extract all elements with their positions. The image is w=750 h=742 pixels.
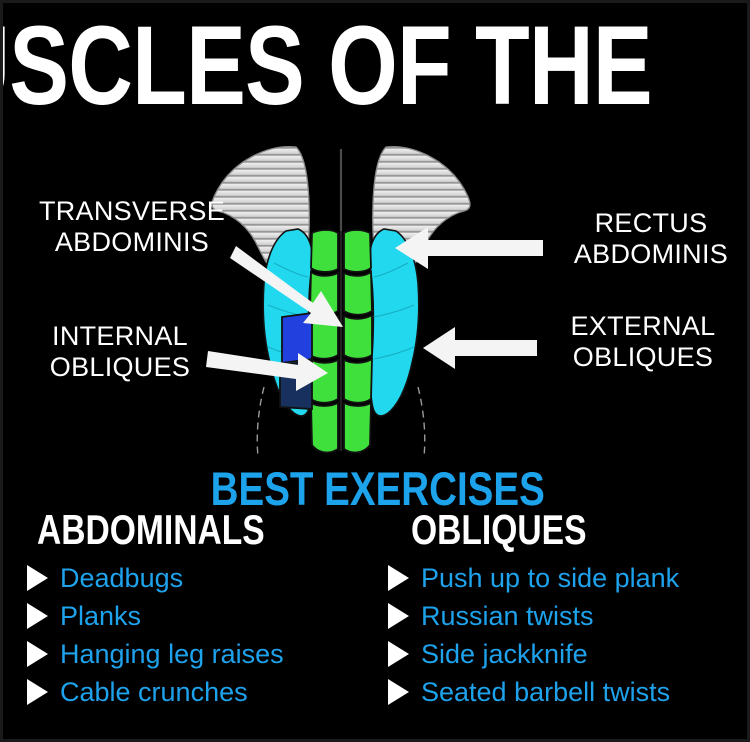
obliques-exercise-list: Push up to side plank Russian twists Sid… (378, 559, 750, 711)
list-item[interactable]: Hanging leg raises (3, 635, 378, 673)
exercise-label: Seated barbell twists (421, 677, 670, 707)
rectus-abdominis-left (310, 230, 338, 452)
triangle-bullet-icon (27, 679, 48, 705)
exercise-label: Side jackknife (421, 639, 588, 669)
column-obliques: OBLIQUES Push up to side plank Russian t… (378, 508, 750, 742)
list-item[interactable]: Planks (3, 597, 378, 635)
rectus-abdominis-right (344, 230, 372, 452)
label-rectus-abdominis: RECTUS ABDOMINIS (551, 208, 750, 270)
label-internal-obliques: INTERNAL OBLIQUES (25, 321, 215, 383)
exercise-label: Push up to side plank (421, 563, 679, 593)
list-item[interactable]: Push up to side plank (378, 559, 750, 597)
list-item[interactable]: Russian twists (378, 597, 750, 635)
exercise-label: Hanging leg raises (60, 639, 284, 669)
poster-title: MUSCLES OF THE ABS (3, 7, 750, 125)
hip-contour-right (418, 387, 425, 457)
label-external-line1: EXTERNAL (543, 311, 743, 342)
column-obliques-heading: OBLIQUES (303, 508, 663, 552)
internal-oblique-lower-patch (280, 361, 312, 409)
label-internal-line1: INTERNAL (25, 321, 215, 352)
label-external-obliques: EXTERNAL OBLIQUES (543, 311, 743, 373)
triangle-bullet-icon (388, 641, 409, 667)
label-rectus-line2: ABDOMINIS (551, 239, 750, 270)
triangle-bullet-icon (388, 679, 409, 705)
label-transverse-line1: TRANSVERSE (17, 196, 247, 227)
list-item[interactable]: Cable crunches (3, 673, 378, 711)
exercise-label: Russian twists (421, 601, 594, 631)
triangle-bullet-icon (27, 565, 48, 591)
label-transverse-abdominis: TRANSVERSE ABDOMINIS (17, 196, 247, 258)
abdominals-exercise-list: Deadbugs Planks Hanging leg raises Cable… (3, 559, 378, 711)
list-item[interactable]: Deadbugs (3, 559, 378, 597)
best-exercises-text: BEST EXERCISES (211, 465, 545, 512)
exercise-label: Deadbugs (60, 563, 183, 593)
label-external-line2: OBLIQUES (543, 342, 743, 373)
abdominal-anatomy-illustration (208, 135, 548, 465)
label-rectus-line1: RECTUS (551, 208, 750, 239)
label-internal-line2: OBLIQUES (25, 352, 215, 383)
triangle-bullet-icon (27, 641, 48, 667)
list-item[interactable]: Seated barbell twists (378, 673, 750, 711)
internal-oblique-upper-patch (282, 313, 312, 363)
best-exercises-heading: BEST EXERCISES (3, 465, 750, 512)
hip-contour-left (257, 387, 264, 457)
exercise-label: Cable crunches (60, 677, 248, 707)
triangle-bullet-icon (388, 565, 409, 591)
infographic-poster: MUSCLES OF THE ABS (0, 0, 750, 742)
column-abdominals-heading: ABDOMINALS (37, 508, 310, 552)
label-transverse-line2: ABDOMINIS (17, 227, 247, 258)
external-oblique-right (370, 229, 419, 416)
triangle-bullet-icon (388, 603, 409, 629)
triangle-bullet-icon (27, 603, 48, 629)
exercise-label: Planks (60, 601, 141, 631)
title-main: MUSCLES OF THE (0, 10, 651, 122)
exercise-columns: ABDOMINALS Deadbugs Planks Hanging leg r… (3, 508, 750, 742)
list-item[interactable]: Side jackknife (378, 635, 750, 673)
